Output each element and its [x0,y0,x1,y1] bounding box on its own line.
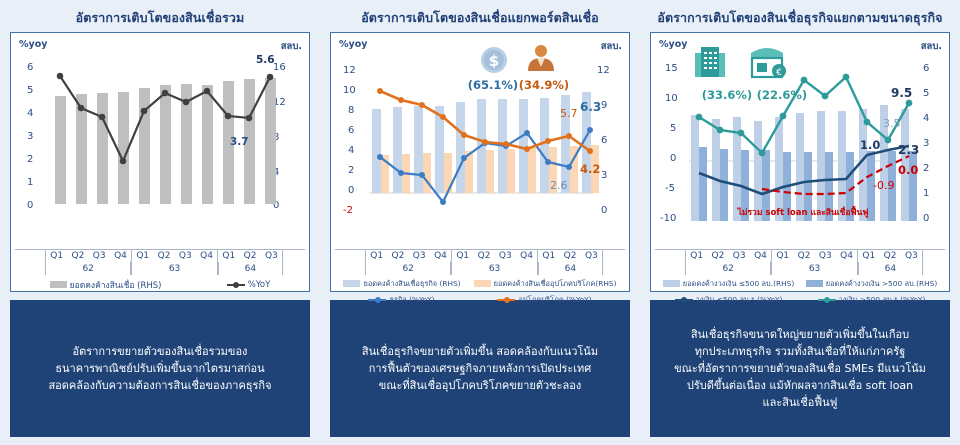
svg-text:4: 4 [923,113,929,124]
bar-swatch-icon [50,281,67,288]
q-label: Q2 [879,250,900,262]
svg-text:1: 1 [27,177,33,188]
page-title-by-size: อัตราการเติบโตของสินเชื่อธุรกิจแยกตามขนา… [650,6,950,32]
share-label-large: (33.6%) [702,88,752,102]
svg-text:6: 6 [923,63,929,74]
chart-svg-portfolio: 12108 642 0 -2 1296 30 $ [335,37,627,249]
callout-line: และสินเชื่อฟื้นฟู [674,394,926,411]
plot-area-total-credit: %yoy สลบ. 654 321 0 16128 40 [15,37,305,249]
right-axis-unit: สลบ. [601,39,622,54]
q-label: Q4 [430,250,451,262]
legend-item-outstanding-le500: ยอดคงค้างวงเงิน ≤500 ลบ.(RHS) [663,278,795,290]
data-label-9-5: 9.5 [891,86,912,100]
legend-item-business-yoy: ธุรกิจ (%YoY) [368,294,434,306]
q-label: Q1 [772,250,793,262]
office-building-icon [695,47,725,77]
data-label-0-0: 0.0 [898,163,918,177]
year-label: 64 [538,262,603,275]
callout-line: ปรับดีขึ้นต่อเนื่อง แม้หักผลจากสินเชื่อ … [674,377,926,394]
data-label-6-3: 6.3 [580,100,601,114]
left-axis-unit: %yoy [339,39,367,50]
svg-text:-2: -2 [343,205,353,216]
businessman-icon [528,45,554,71]
svg-text:6: 6 [601,135,607,146]
svg-text:-10: -10 [660,213,676,224]
svg-text:0: 0 [670,153,676,164]
svg-text:6: 6 [27,62,33,73]
q-label: Q3 [729,250,750,262]
legend-item-yoy: %YoY [227,280,271,290]
legend-item-gt500-yoy: วงเงิน >500 ลบ.* (%YoY) [818,294,926,306]
svg-text:4: 4 [348,145,354,156]
q-label: Q2 [559,250,580,262]
q-label: Q4 [750,250,771,262]
callout-line: สินเชื่อธุรกิจขนาดใหญ่ขยายตัวเพิ่มขึ้นใน… [674,326,926,343]
svg-text:4: 4 [27,108,33,119]
svg-text:0: 0 [601,205,607,216]
q-label: Q4 [516,250,537,262]
right-axis-unit: สลบ. [281,39,302,54]
legend-item-consumer-outstanding: ยอดคงค้างสินเชื่ออุปโภคบริโภค(RHS) [474,278,617,290]
svg-text:3: 3 [601,170,607,181]
q-label: Q3 [175,250,196,262]
line-swatch-icon [227,281,245,289]
data-label-1-0: 1.0 [860,138,880,152]
callout-line: ขณะที่อัตราการขยายตัวของสินเชื่อ SMEs มี… [674,360,926,377]
chart-card-by-size: %yoy สลบ. 15105 0-5-10 654 321 0 [650,32,950,292]
data-label-5-6: 5.6 [256,54,275,66]
legend-by-size: ยอดคงค้างวงเงิน ≤500 ลบ.(RHS) ยอดคงค้างว… [655,275,945,307]
svg-text:12: 12 [343,65,356,76]
svg-text:0: 0 [27,200,33,211]
data-label-2-6: 2.6 [550,179,568,192]
svg-text:10: 10 [343,85,356,96]
legend-item-outstanding-credit: ยอดคงค้างสินเชื่อ (RHS) [50,278,162,292]
data-label-2-3: 2.3 [898,143,919,157]
q-label: Q1 [132,250,153,262]
callout-line: สอดคล้องกับความต้องการสินเชื่อของภาคธุรก… [48,377,271,394]
legend-label: ยอดคงค้างวงเงิน ≤500 ลบ.(RHS) [683,278,795,290]
category-axis-total-credit: Q1 Q2 Q3 Q4 Q1 Q2 Q3 Q4 Q1 [15,249,305,275]
svg-text:2: 2 [923,163,929,174]
share-label-sme: (22.6%) [757,88,807,102]
legend-label: อุปโภคบริโภค (%YoY) [518,294,591,306]
q-label: Q2 [387,250,408,262]
q-label: Q4 [196,250,217,262]
svg-text:$: $ [489,52,499,70]
year-label: 64 [218,262,283,275]
panel-business-credit-by-size: อัตราการเติบโตของสินเชื่อธุรกิจแยกตามขนา… [640,0,960,445]
q-label: Q3 [815,250,836,262]
callout-line: ธนาคารพาณิชย์ปรับเพิ่มขึ้นจากไตรมาสก่อน [48,360,271,377]
q-label: Q3 [409,250,430,262]
bar-swatch-icon [474,280,491,287]
q-label: Q3 [581,250,602,262]
q-label: Q3 [261,250,282,262]
legend-label: วงเงิน >500 ลบ.* (%YoY) [839,294,926,306]
svg-text:8: 8 [348,105,354,116]
legend-label: ยอดคงค้างสินเชื่ออุปโภคบริโภค(RHS) [494,278,617,290]
year-label: 64 [858,262,923,275]
legend-portfolio: ยอดคงค้างสินเชื่อธุรกิจ (RHS) ยอดคงค้างส… [335,275,625,307]
svg-text:2: 2 [348,165,354,176]
q-label: Q4 [110,250,131,262]
callout-by-size: สินเชื่อธุรกิจขนาดใหญ่ขยายตัวเพิ่มขึ้นใน… [650,300,950,437]
svg-text:12: 12 [597,65,610,76]
svg-text:0: 0 [923,213,929,224]
callout-line: ขณะที่สินเชื่ออุปโภคบริโภคขยายตัวชะลอง [362,377,598,394]
svg-text:10: 10 [665,93,678,104]
chart-svg-by-size: 15105 0-5-10 654 321 0 [655,37,947,249]
legend-item-outstanding-gt500: ยอดคงค้างวงเงิน >500 ลบ.(RHS) [806,278,938,290]
year-label: 62 [685,262,771,275]
line-swatch-icon [368,296,386,304]
legend-label: ยอดคงค้างสินเชื่อ (RHS) [70,278,162,292]
money-coin-icon: $ [481,47,507,73]
legend-label: ธุรกิจ (%YoY) [389,294,434,306]
legend-label: วงเงิน ≤500 ลบ.* (%YoY) [696,294,783,306]
q-label: Q2 [239,250,260,262]
q-label: Q1 [366,250,387,262]
chart-card-total-credit: %yoy สลบ. 654 321 0 16128 40 [10,32,310,292]
share-label-business: (65.1%) [468,78,518,92]
legend-item-le500-yoy: วงเงิน ≤500 ลบ.* (%YoY) [675,294,783,306]
q-label: Q2 [707,250,728,262]
data-label-5-7: 5.7 [560,107,578,120]
svg-text:€: € [776,68,782,78]
svg-text:16: 16 [273,62,286,73]
line-swatch-icon [497,296,515,304]
page-title-total-credit: อัตราการเติบโตของสินเชื่อรวม [10,6,310,32]
plot-area-by-size: %yoy สลบ. 15105 0-5-10 654 321 0 [655,37,945,249]
bar-swatch-icon [663,280,680,287]
q-label: Q1 [218,250,239,262]
q-label: Q1 [538,250,559,262]
q-label: Q2 [473,250,494,262]
q-label: Q3 [495,250,516,262]
svg-text:9: 9 [601,100,607,111]
legend-item-consumer-yoy: อุปโภคบริโภค (%YoY) [497,294,591,306]
svg-text:5: 5 [923,88,929,99]
q-label: Q2 [153,250,174,262]
svg-text:5: 5 [27,85,33,96]
legend-total-credit: ยอดคงค้างสินเชื่อ (RHS) %YoY [15,275,305,293]
year-label: 63 [131,262,217,275]
bar-swatch-icon [806,280,823,287]
callout-line: การฟื้นตัวของเศรษฐกิจภายหลังการเปิดประเท… [362,360,598,377]
svg-text:-5: -5 [665,183,675,194]
legend-label: ยอดคงค้างวงเงิน >500 ลบ.(RHS) [826,278,938,290]
year-label: 62 [45,262,131,275]
svg-text:0: 0 [348,185,354,196]
svg-text:15: 15 [665,63,678,74]
svg-text:2: 2 [27,154,33,165]
svg-text:3: 3 [27,131,33,142]
q-label: Q1 [452,250,473,262]
q-label: Q3 [901,250,922,262]
legend-label: %YoY [248,280,271,290]
year-label: 62 [365,262,451,275]
q-label: Q1 [686,250,707,262]
category-axis-portfolio: Q1 Q2 Q3 Q4 Q1 Q2 Q3 Q4 Q1 [335,249,625,275]
storefront-shop-icon: € [751,48,786,78]
data-label-3-7: 3.7 [230,136,249,148]
panel-total-credit: อัตราการเติบโตของสินเชื่อรวม %yoy สลบ. 6… [0,0,320,445]
data-label-3-5: 3.5 [883,117,901,130]
callout-line: สินเชื่อธุรกิจขยายตัวเพิ่มขึ้น สอดคล้องก… [362,343,598,360]
q-label: Q1 [858,250,879,262]
data-label-4-2: 4.2 [580,162,600,176]
svg-text:5: 5 [670,123,676,134]
svg-text:6: 6 [348,125,354,136]
dashboard: อัตราการเติบโตของสินเชื่อรวม %yoy สลบ. 6… [0,0,960,445]
q-label: Q2 [793,250,814,262]
callout-line: อัตราการขยายตัวของสินเชื่อรวมของ [48,343,271,360]
share-label-consumer: (34.9%) [519,78,569,92]
page-title-portfolio: อัตราการเติบโตของสินเชื่อแยกพอร์ตสินเชื่… [330,6,630,32]
line-swatch-icon [818,296,836,304]
chart-card-portfolio: %yoy สลบ. 12108 642 0 -2 1296 30 [330,32,630,292]
svg-text:1: 1 [923,188,929,199]
chart-svg-total-credit: 654 321 0 16128 40 [15,37,307,249]
data-label-neg-0-9: -0.9 [873,179,894,192]
q-label: Q4 [836,250,857,262]
plot-area-portfolio: %yoy สลบ. 12108 642 0 -2 1296 30 [335,37,625,249]
category-axis-by-size: Q1 Q2 Q3 Q4 Q1 Q2 Q3 Q4 Q1 [655,249,945,275]
callout-line: ทุกประเภทธุรกิจ รวมทั้งสินเชื่อที่ให้แก่… [674,343,926,360]
q-label: Q3 [89,250,110,262]
legend-item-business-outstanding: ยอดคงค้างสินเชื่อธุรกิจ (RHS) [343,278,460,290]
svg-text:3: 3 [923,138,929,149]
q-label: Q2 [67,250,88,262]
callout-total-credit: อัตราการขยายตัวของสินเชื่อรวมของ ธนาคารพ… [10,300,310,437]
year-label: 63 [771,262,857,275]
panel-credit-by-portfolio: อัตราการเติบโตของสินเชื่อแยกพอร์ตสินเชื่… [320,0,640,445]
legend-label: ยอดคงค้างสินเชื่อธุรกิจ (RHS) [363,278,460,290]
line-swatch-icon [675,296,693,304]
left-axis-unit: %yoy [659,39,687,50]
q-label: Q1 [46,250,67,262]
callout-portfolio: สินเชื่อธุรกิจขยายตัวเพิ่มขึ้น สอดคล้องก… [330,300,630,437]
right-axis-unit: สลบ. [921,39,942,54]
left-axis-unit: %yoy [19,39,47,50]
year-label: 63 [451,262,537,275]
bar-swatch-icon [343,280,360,287]
